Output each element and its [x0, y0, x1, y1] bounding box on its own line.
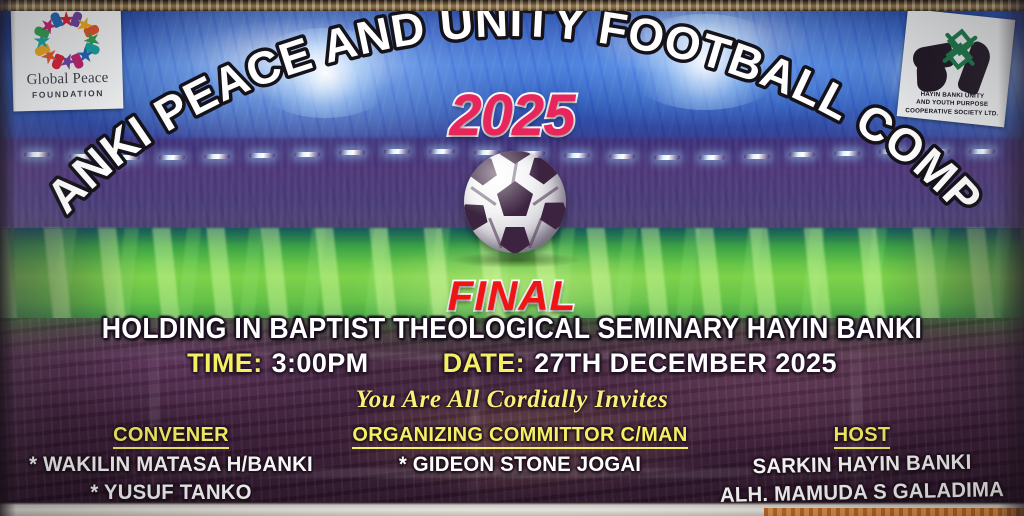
- time-group: TIME: 3:00PM: [187, 348, 368, 379]
- banner-bottom-edge: [0, 502, 1024, 516]
- ball-pentagon: [497, 181, 533, 216]
- floodlight: [789, 152, 816, 157]
- floodlight: [294, 152, 321, 157]
- global-peace-foundation-logo: Global Peace FOUNDATION: [11, 4, 124, 111]
- ball-pentagon: [500, 227, 530, 253]
- banner-left-shadow: [0, 0, 16, 516]
- time-label: TIME:: [187, 348, 263, 379]
- floodlight: [879, 149, 906, 154]
- floodlight: [114, 155, 141, 160]
- gpf-title: Global Peace: [26, 71, 108, 88]
- credit-name: * GIDEON STONE JOGAI: [345, 452, 694, 477]
- floodlight: [924, 149, 951, 154]
- credit-name: SARKIN HAYIN BANKI: [710, 449, 1013, 481]
- credit-name: * WAKILIN MATASA H/BANKI: [11, 452, 331, 477]
- venue-line: HOLDING IN BAPTIST THEOLOGICAL SEMINARY …: [41, 313, 983, 346]
- floodlight: [24, 152, 51, 157]
- floodlight: [339, 150, 366, 155]
- credit-column-host: HOST SARKIN HAYIN BANKI ALH. MAMUDA S GA…: [706, 424, 1018, 505]
- date-label: DATE:: [443, 348, 526, 379]
- credit-column-organizing: ORGANIZING COMMITTOR C/MAN * GIDEON STON…: [340, 424, 700, 477]
- banner-right-shadow: [998, 0, 1024, 516]
- credit-heading: CONVENER: [113, 424, 229, 449]
- floodlight: [204, 154, 231, 159]
- ball-seam: [528, 218, 543, 249]
- ball-pentagon: [500, 151, 530, 164]
- floodlight: [249, 153, 276, 158]
- football-competition-banner: HAYIN BANKI PEACE AND UNITY FOOTBALL COM…: [0, 0, 1024, 516]
- date-group: DATE: 27TH DECEMBER 2025: [443, 348, 837, 379]
- year-text: 2025: [0, 82, 1024, 149]
- floodlight: [159, 155, 186, 160]
- ball-body: [464, 151, 566, 253]
- floodlight: [744, 154, 771, 159]
- stage-text: FINAL: [448, 272, 577, 319]
- floodlight: [69, 154, 96, 159]
- floodlight: [384, 149, 411, 154]
- floodlight: [699, 155, 726, 160]
- knot-icon: [936, 26, 984, 72]
- date-value: 27TH DECEMBER 2025: [534, 348, 837, 379]
- credit-heading: HOST: [834, 424, 891, 449]
- floodlight: [834, 151, 861, 156]
- credit-column-convener: CONVENER * WAKILIN MATASA H/BANKI * YUSU…: [6, 424, 336, 505]
- time-date-row: TIME: 3:00PM DATE: 27TH DECEMBER 2025: [0, 348, 1024, 379]
- floodlight: [609, 154, 636, 159]
- gpf-subtitle: FOUNDATION: [32, 88, 104, 100]
- floodlight: [969, 149, 996, 154]
- bottom-orange-strip: [764, 508, 1024, 516]
- credits-row: CONVENER * WAKILIN MATASA H/BANKI * YUSU…: [0, 424, 1024, 510]
- floodlight: [654, 155, 681, 160]
- time-value: 3:00PM: [272, 348, 369, 379]
- ball-seam: [470, 186, 496, 206]
- invitation-script-text: You Are All Cordially Invites: [0, 386, 1024, 414]
- banner-top-edge: [0, 0, 1024, 11]
- gpf-emblem-icon: [29, 8, 105, 72]
- soccer-ball-icon: [460, 148, 570, 260]
- coop-text-block: HAYIN BANKI UNITY AND YOUTH PURPOSE COOP…: [902, 90, 1003, 119]
- credit-heading: ORGANIZING COMMITTOR C/MAN: [352, 424, 687, 449]
